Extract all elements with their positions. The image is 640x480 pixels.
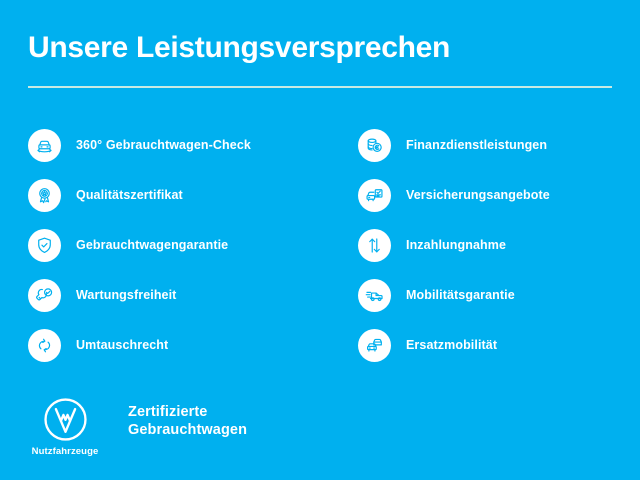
benefit-item-gebrauchtwagen-check[interactable]: 360° Gebrauchtwagen-Check	[28, 120, 348, 170]
benefit-label: Wartungsfreiheit	[76, 288, 176, 303]
shield-check-icon	[28, 229, 61, 262]
wrench-check-icon	[28, 279, 61, 312]
car-document-check-icon	[358, 179, 391, 212]
benefit-item-ersatzmobilitaet[interactable]: Ersatzmobilität	[358, 320, 633, 370]
page-title: Unsere Leistungsversprechen	[28, 30, 612, 66]
volkswagen-logo-icon	[42, 396, 89, 443]
benefit-label: Qualitätszertifikat	[76, 188, 183, 203]
benefit-item-inzahlungnahme[interactable]: Inzahlungnahme	[358, 220, 633, 270]
footer-caption-line1: Zertifizierte	[128, 403, 247, 421]
logo-subtitle: Nutzfahrzeuge	[32, 446, 99, 457]
benefit-item-finanzdienstleistungen[interactable]: Finanzdienstleistungen	[358, 120, 633, 170]
benefit-item-wartungsfreiheit[interactable]: Wartungsfreiheit	[28, 270, 348, 320]
benefit-label: Mobilitätsgarantie	[406, 288, 515, 303]
title-divider	[28, 86, 612, 88]
footer-caption-line2: Gebrauchtwagen	[128, 421, 247, 439]
header: Unsere Leistungsversprechen	[28, 30, 612, 66]
promo-poster: Unsere Leistungsversprechen 360° Gebrauc…	[0, 0, 640, 480]
benefit-label: 360° Gebrauchtwagen-Check	[76, 138, 251, 153]
car-360-check-icon	[28, 129, 61, 162]
benefit-label: Finanzdienstleistungen	[406, 138, 547, 153]
benefits-columns: 360° Gebrauchtwagen-Check Qualitätszerti…	[0, 120, 640, 370]
benefit-label: Inzahlungnahme	[406, 238, 506, 253]
footer-caption: Zertifizierte Gebrauchtwagen	[128, 403, 247, 439]
benefit-item-umtauschrecht[interactable]: Umtauschrecht	[28, 320, 348, 370]
benefit-label: Umtauschrecht	[76, 338, 168, 353]
arrows-up-down-icon	[358, 229, 391, 262]
benefit-item-qualitaetszertifikat[interactable]: Qualitätszertifikat	[28, 170, 348, 220]
benefit-item-gebrauchtwagengarantie[interactable]: Gebrauchtwagengarantie	[28, 220, 348, 270]
benefit-label: Ersatzmobilität	[406, 338, 497, 353]
footer: Nutzfahrzeuge Zertifizierte Gebrauchtwag…	[28, 396, 247, 457]
benefit-item-versicherungsangebote[interactable]: Versicherungsangebote	[358, 170, 633, 220]
coins-euro-icon	[358, 129, 391, 162]
benefits-column-left: 360° Gebrauchtwagen-Check Qualitätszerti…	[28, 120, 348, 370]
benefit-label: Versicherungsangebote	[406, 188, 550, 203]
volkswagen-logo: Nutzfahrzeuge	[28, 396, 102, 457]
van-speed-icon	[358, 279, 391, 312]
benefit-item-mobilitaetsgarantie[interactable]: Mobilitätsgarantie	[358, 270, 633, 320]
two-cars-icon	[358, 329, 391, 362]
benefits-column-right: Finanzdienstleistungen Versicherungsange…	[358, 120, 633, 370]
award-rosette-icon	[28, 179, 61, 212]
exchange-arrows-icon	[28, 329, 61, 362]
benefit-label: Gebrauchtwagengarantie	[76, 238, 228, 253]
